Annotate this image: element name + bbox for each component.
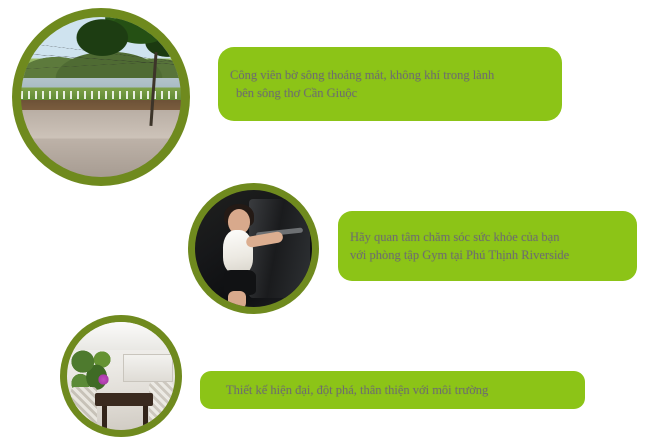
dining-table-leg-right <box>143 406 148 430</box>
callout-park-line-2: bên sông thơ Cần Giuộc <box>230 84 562 102</box>
riverside-park-image <box>21 17 181 177</box>
callout-park-line-1: Công viên bờ sông thoáng mát, không khí … <box>230 66 562 84</box>
dining-table <box>95 393 153 406</box>
callout-interior: Thiết kế hiện đại, đột phá, thân thiện v… <box>200 371 585 409</box>
dining-table-leg-left <box>102 406 107 430</box>
interior-image <box>67 322 175 430</box>
dining-chair-left <box>71 387 97 430</box>
interior-cabinet <box>123 354 173 382</box>
riverside-park-photo <box>12 8 190 186</box>
callout-gym-line-2: với phòng tập Gym tại Phú Thịnh Riversid… <box>350 246 637 264</box>
gym-woman-photo <box>188 183 319 314</box>
orchid-flower <box>97 374 110 385</box>
slide-canvas: Công viên bờ sông thoáng mát, không khí … <box>0 0 649 446</box>
callout-interior-line-1: Thiết kế hiện đại, đột phá, thân thiện v… <box>226 381 585 399</box>
river-railing <box>21 91 181 99</box>
callout-gym-line-1: Hãy quan tâm chăm sóc sức khỏe của bạn <box>350 228 637 246</box>
tree-canopy <box>66 17 181 75</box>
gym-image <box>195 190 312 307</box>
callout-park: Công viên bờ sông thoáng mát, không khí … <box>218 47 562 121</box>
gym-machine <box>249 199 310 297</box>
callout-gym: Hãy quan tâm chăm sóc sức khỏe của bạn v… <box>338 211 637 281</box>
woman-leg <box>228 291 247 307</box>
modern-interior-photo <box>60 315 182 437</box>
